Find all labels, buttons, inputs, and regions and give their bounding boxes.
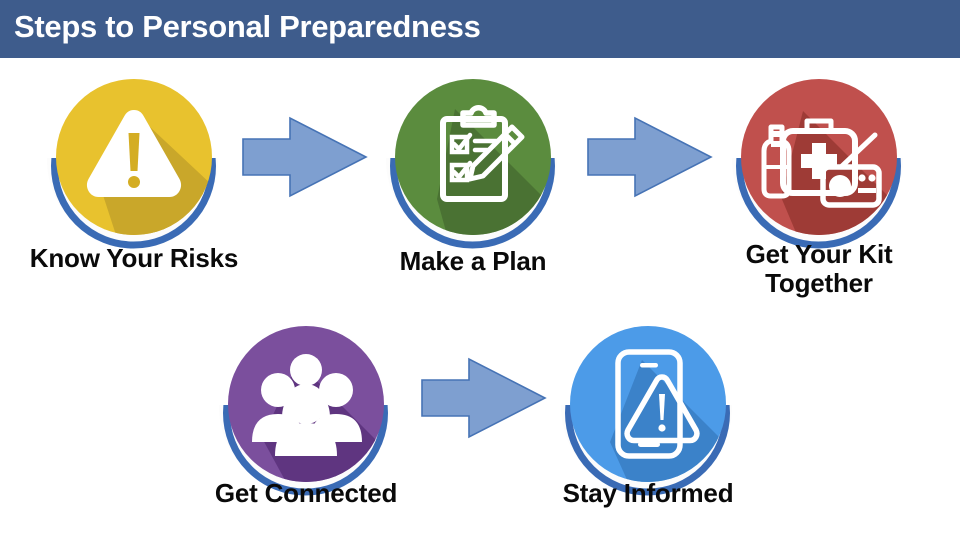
step-get-connected[interactable]: Get Connected: [218, 321, 393, 521]
step-label: Get Your Kit Together: [709, 240, 929, 298]
right-arrow-icon: [419, 355, 549, 441]
arrow-know-to-plan: [240, 114, 370, 200]
page-title: Steps to Personal Preparedness: [14, 9, 481, 45]
step-icon-circle[interactable]: [385, 74, 560, 249]
slide-canvas: Steps to Personal Preparedness: [0, 0, 960, 540]
arrow-connected-to-informed: [419, 355, 549, 441]
circle-disc: [56, 79, 212, 235]
first-aid-kit-icon: [741, 79, 897, 235]
right-arrow-icon: [585, 114, 715, 200]
circle-disc: [741, 79, 897, 235]
step-label: Make a Plan: [343, 247, 603, 276]
arrow-plan-to-kit: [585, 114, 715, 200]
slide-title-bar: Steps to Personal Preparedness: [0, 0, 960, 58]
phone-alert-icon: [570, 326, 726, 482]
step-label: Get Connected: [176, 479, 436, 508]
step-icon-circle[interactable]: [731, 74, 906, 249]
step-label: Stay Informed: [518, 479, 778, 508]
step-icon-circle[interactable]: [560, 321, 735, 496]
circle-disc: [395, 79, 551, 235]
step-label: Know Your Risks: [4, 244, 264, 273]
step-icon-circle[interactable]: [46, 74, 221, 249]
circle-disc: [570, 326, 726, 482]
step-know-your-risks[interactable]: Know Your Risks: [46, 74, 221, 274]
warning-triangle-icon: [56, 79, 212, 235]
step-make-a-plan[interactable]: Make a Plan: [385, 74, 560, 274]
people-group-icon: [228, 326, 384, 482]
step-get-your-kit-together[interactable]: Get Your Kit Together: [731, 74, 906, 304]
clipboard-pencil-icon: [395, 79, 551, 235]
circle-disc: [228, 326, 384, 482]
step-stay-informed[interactable]: Stay Informed: [560, 321, 735, 521]
right-arrow-icon: [240, 114, 370, 200]
step-icon-circle[interactable]: [218, 321, 393, 496]
